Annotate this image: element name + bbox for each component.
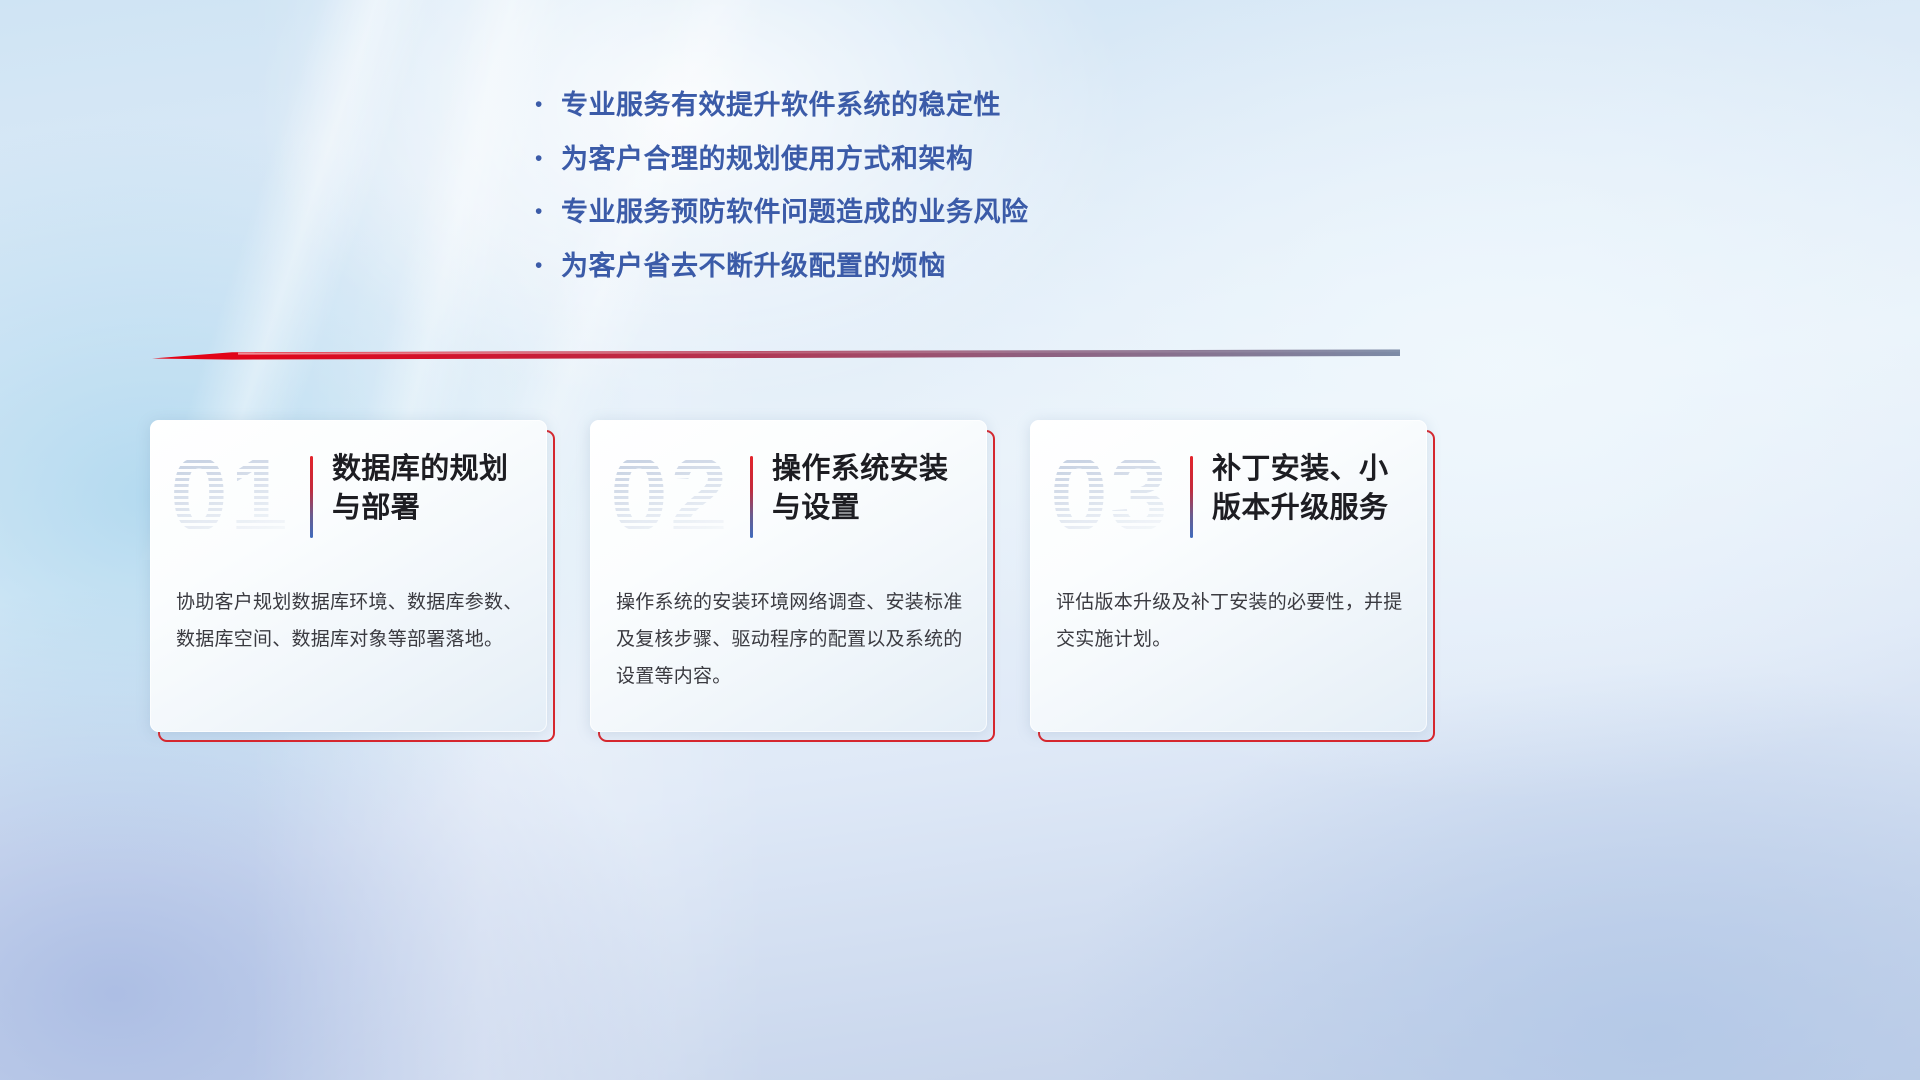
card-header: 03 补丁安装、小 版本升级服务 — [1030, 420, 1427, 570]
bullet-item: • 专业服务有效提升软件系统的稳定性 — [535, 88, 1255, 123]
card-title-line: 版本升级服务 — [1212, 489, 1412, 528]
svg-text:02: 02 — [610, 442, 730, 546]
card-accent-rule — [310, 456, 313, 538]
bullet-dot-icon: • — [535, 94, 561, 115]
bullet-text: 为客户合理的规划使用方式和架构 — [561, 142, 974, 177]
slide-canvas: • 专业服务有效提升软件系统的稳定性 • 为客户合理的规划使用方式和架构 • 专… — [0, 0, 1920, 1080]
bullet-list: • 专业服务有效提升软件系统的稳定性 • 为客户合理的规划使用方式和架构 • 专… — [535, 88, 1255, 302]
bullet-item: • 专业服务预防软件问题造成的业务风险 — [535, 195, 1255, 230]
svg-text:03: 03 — [1050, 442, 1170, 546]
card-body-text: 操作系统的安装环境网络调查、安装标准及复核步骤、驱动程序的配置以及系统的设置等内… — [616, 584, 964, 695]
card-title: 补丁安装、小 版本升级服务 — [1212, 450, 1412, 527]
card-panel: 03 补丁安装、小 版本升级服务 评估版本升级及补丁安装的必要性，并提交实施计划… — [1030, 420, 1427, 732]
bullet-text: 为客户省去不断升级配置的烦恼 — [561, 249, 946, 284]
card-panel: 01 数据库的规划 与部署 协助客户规划数据库环境、数据库参数、数据库空间、数据… — [150, 420, 547, 732]
card-title-line: 补丁安装、小 — [1212, 450, 1412, 489]
card-number-watermark: 02 — [610, 442, 740, 546]
card-accent-rule — [1190, 456, 1193, 538]
card-header: 02 操作系统安装 与设置 — [590, 420, 987, 570]
bullet-text: 专业服务有效提升软件系统的稳定性 — [561, 88, 1001, 123]
card-accent-rule — [750, 456, 753, 538]
bullet-dot-icon: • — [535, 255, 561, 276]
card-body-text: 协助客户规划数据库环境、数据库参数、数据库空间、数据库对象等部署落地。 — [176, 584, 524, 658]
service-card[interactable]: 01 数据库的规划 与部署 协助客户规划数据库环境、数据库参数、数据库空间、数据… — [150, 420, 555, 742]
bullet-item: • 为客户省去不断升级配置的烦恼 — [535, 249, 1255, 284]
bullet-dot-icon: • — [535, 148, 561, 169]
bullet-item: • 为客户合理的规划使用方式和架构 — [535, 142, 1255, 177]
section-divider — [152, 349, 1400, 363]
card-number-watermark: 01 — [170, 442, 300, 546]
card-number-watermark: 03 — [1050, 442, 1180, 546]
service-card[interactable]: 02 操作系统安装 与设置 操作系统的安装环境网络调查、安装标准及复核步骤、驱动… — [590, 420, 995, 742]
card-body-text: 评估版本升级及补丁安装的必要性，并提交实施计划。 — [1056, 584, 1404, 658]
service-card[interactable]: 03 补丁安装、小 版本升级服务 评估版本升级及补丁安装的必要性，并提交实施计划… — [1030, 420, 1435, 742]
service-card-list: 01 数据库的规划 与部署 协助客户规划数据库环境、数据库参数、数据库空间、数据… — [150, 420, 1780, 750]
card-title-line: 与设置 — [772, 489, 972, 528]
svg-text:01: 01 — [170, 442, 290, 546]
card-title: 数据库的规划 与部署 — [332, 450, 532, 527]
card-title-line: 数据库的规划 — [332, 450, 532, 489]
card-panel: 02 操作系统安装 与设置 操作系统的安装环境网络调查、安装标准及复核步骤、驱动… — [590, 420, 987, 732]
bullet-text: 专业服务预防软件问题造成的业务风险 — [561, 195, 1029, 230]
card-header: 01 数据库的规划 与部署 — [150, 420, 547, 570]
bullet-dot-icon: • — [535, 201, 561, 222]
card-title-line: 操作系统安装 — [772, 450, 972, 489]
card-title-line: 与部署 — [332, 489, 532, 528]
card-title: 操作系统安装 与设置 — [772, 450, 972, 527]
